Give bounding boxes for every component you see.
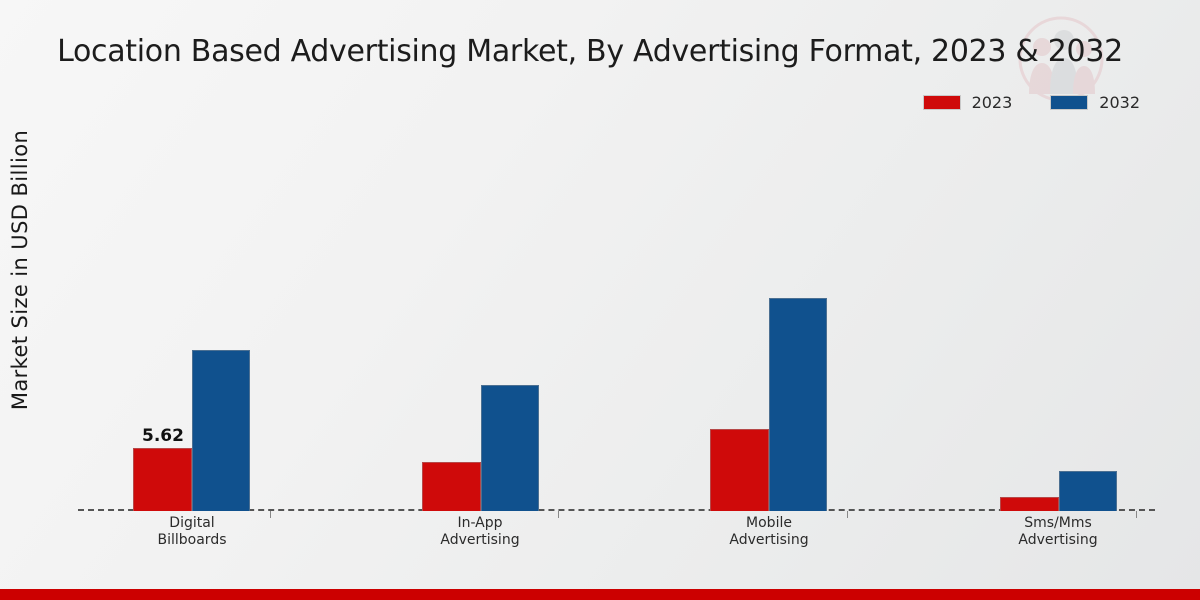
chart-title: Location Based Advertising Market, By Ad… xyxy=(0,34,1180,69)
bar-2023-digital-billboards[interactable] xyxy=(133,448,192,511)
x-axis-label-in-app-advertising: In-App Advertising xyxy=(405,515,555,549)
bar-2032-in-app-advertising[interactable] xyxy=(481,385,539,511)
chart-canvas: Location Based Advertising Market, By Ad… xyxy=(0,0,1200,600)
legend-label-2032: 2032 xyxy=(1099,93,1140,112)
x-axis-label-mobile-advertising: Mobile Advertising xyxy=(694,515,844,549)
x-axis-label-line-2: Advertising xyxy=(405,532,555,549)
legend-label-2023: 2023 xyxy=(972,93,1013,112)
bar-2032-sms-mms-advertising[interactable] xyxy=(1059,471,1117,511)
x-axis-label-line-1: Digital xyxy=(117,515,267,532)
plot-area: 5.62 xyxy=(78,120,1155,511)
legend-swatch-red-icon xyxy=(923,95,961,110)
bar-2023-in-app-advertising[interactable] xyxy=(422,462,481,511)
legend-item-2032[interactable]: 2032 xyxy=(1050,93,1140,112)
x-axis-label-line-1: In-App xyxy=(405,515,555,532)
y-axis-title: Market Size in USD Billion xyxy=(0,0,40,540)
x-axis-label-line-2: Billboards xyxy=(117,532,267,549)
x-axis-label-digital-billboards: Digital Billboards xyxy=(117,515,267,549)
x-axis-tick xyxy=(558,511,559,518)
x-axis-tick xyxy=(270,511,271,518)
x-axis-label-line-1: Sms/Mms xyxy=(983,515,1133,532)
bar-value-label-digital-billboards-2023: 5.62 xyxy=(123,426,203,446)
footer-accent-bar xyxy=(0,589,1200,600)
bar-2023-sms-mms-advertising[interactable] xyxy=(1000,497,1059,511)
legend-item-2023[interactable]: 2023 xyxy=(923,93,1013,112)
x-axis-label-line-1: Mobile xyxy=(694,515,844,532)
x-axis-label-line-2: Advertising xyxy=(694,532,844,549)
x-axis-tick xyxy=(1136,511,1137,518)
x-axis-tick xyxy=(847,511,848,518)
x-axis-label-line-2: Advertising xyxy=(983,532,1133,549)
y-axis-title-text: Market Size in USD Billion xyxy=(8,130,32,410)
legend-swatch-blue-icon xyxy=(1050,95,1088,110)
chart-legend: 2023 2032 xyxy=(0,93,1140,112)
bar-2023-mobile-advertising[interactable] xyxy=(710,429,769,511)
x-axis-label-sms-mms-advertising: Sms/Mms Advertising xyxy=(983,515,1133,549)
bar-2032-mobile-advertising[interactable] xyxy=(769,298,827,511)
